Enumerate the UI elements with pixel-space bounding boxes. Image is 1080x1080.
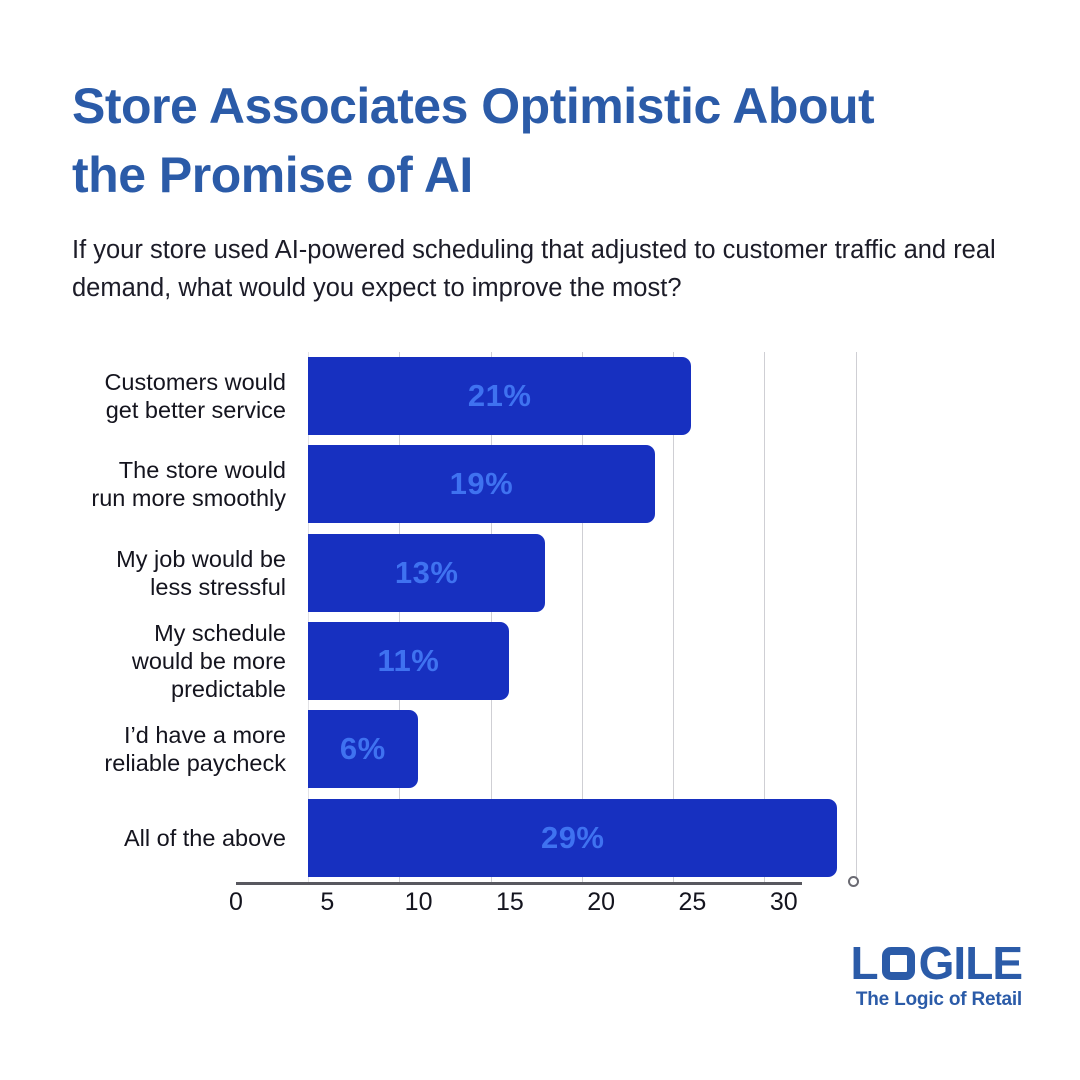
plot-area: 21%19%13%11%6%29% bbox=[308, 352, 872, 882]
x-axis-ticks: 051015202530 bbox=[236, 888, 802, 928]
bar-value-label: 6% bbox=[340, 731, 386, 767]
bar-value-label: 19% bbox=[450, 466, 514, 502]
x-tick-label: 20 bbox=[587, 888, 615, 917]
bar-row: 19% bbox=[308, 440, 872, 528]
infographic-canvas: Store Associates Optimistic About the Pr… bbox=[0, 0, 1080, 1080]
header: Store Associates Optimistic About the Pr… bbox=[72, 72, 1012, 307]
category-label: My schedule would be more predictable bbox=[72, 617, 300, 705]
bar-row: 29% bbox=[308, 794, 872, 882]
axis-end-handle[interactable] bbox=[848, 876, 859, 887]
category-axis: Customers would get better serviceThe st… bbox=[72, 352, 300, 882]
x-tick-label: 10 bbox=[405, 888, 433, 917]
x-tick-label: 15 bbox=[496, 888, 524, 917]
bar[interactable]: 29% bbox=[308, 799, 837, 877]
bar[interactable]: 21% bbox=[308, 357, 691, 435]
bar-value-label: 11% bbox=[377, 643, 439, 679]
category-label: Customers would get better service bbox=[72, 352, 300, 440]
category-label: All of the above bbox=[72, 794, 300, 882]
bar[interactable]: 6% bbox=[308, 710, 418, 788]
bar-row: 11% bbox=[308, 617, 872, 705]
x-tick-label: 0 bbox=[229, 888, 243, 917]
bar-value-label: 21% bbox=[468, 378, 532, 414]
bar[interactable]: 11% bbox=[308, 622, 509, 700]
bar-value-label: 13% bbox=[395, 555, 459, 591]
bar-row: 13% bbox=[308, 529, 872, 617]
logo-letters-gile: GILE bbox=[919, 940, 1022, 986]
x-axis-line bbox=[236, 882, 802, 885]
category-label: I’d have a more reliable paycheck bbox=[72, 705, 300, 793]
bar-series: 21%19%13%11%6%29% bbox=[308, 352, 872, 882]
x-tick-label: 25 bbox=[679, 888, 707, 917]
category-label: My job would be less stressful bbox=[72, 529, 300, 617]
bar[interactable]: 13% bbox=[308, 534, 545, 612]
logo-wordmark: L GILE bbox=[832, 942, 1022, 984]
logo-tagline: The Logic of Retail bbox=[832, 989, 1022, 1011]
chart-subtitle: If your store used AI-powered scheduling… bbox=[72, 232, 1012, 307]
logile-logo: L GILE The Logic of Retail bbox=[832, 942, 1022, 1011]
category-label: The store would run more smoothly bbox=[72, 440, 300, 528]
bar-chart: Customers would get better serviceThe st… bbox=[72, 352, 872, 882]
logo-o-ring-icon bbox=[882, 947, 915, 980]
bar[interactable]: 19% bbox=[308, 445, 655, 523]
page-title: Store Associates Optimistic About the Pr… bbox=[72, 72, 1012, 210]
bar-row: 21% bbox=[308, 352, 872, 440]
bar-value-label: 29% bbox=[541, 820, 605, 856]
x-tick-label: 5 bbox=[320, 888, 334, 917]
x-tick-label: 30 bbox=[770, 888, 798, 917]
bar-row: 6% bbox=[308, 705, 872, 793]
logo-letter-l: L bbox=[851, 940, 878, 986]
